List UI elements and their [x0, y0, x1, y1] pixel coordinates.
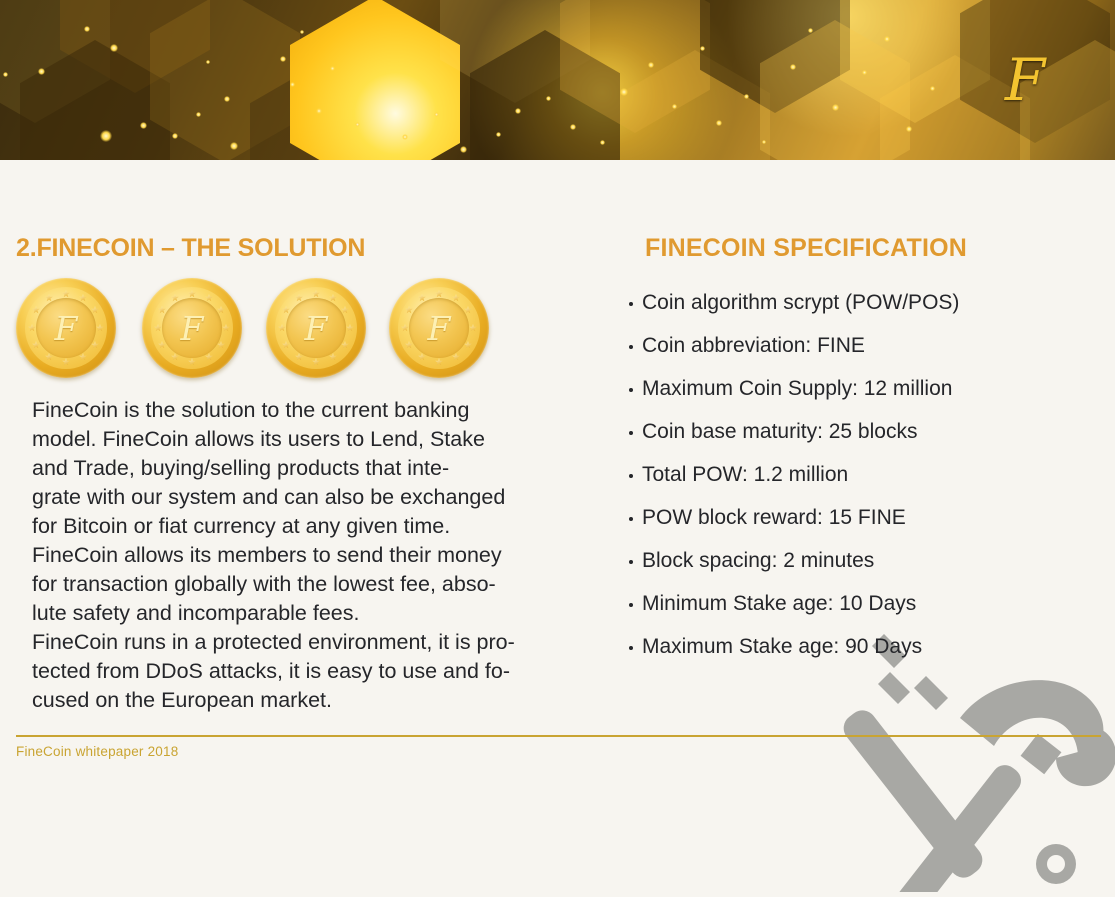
bokeh-dot — [434, 112, 439, 117]
list-item-label: Maximum Coin Supply: 12 million — [642, 377, 952, 401]
bullet-icon — [629, 388, 633, 392]
bokeh-dot — [884, 36, 890, 42]
list-item-label: Coin algorithm scrypt (POW/POS) — [642, 291, 959, 315]
bokeh-dot — [100, 130, 112, 142]
bokeh-dot — [402, 134, 408, 140]
coin-face: F — [286, 298, 346, 358]
coin-face: F — [409, 298, 469, 358]
list-item: POW block reward: 15 FINE — [629, 506, 1099, 549]
bokeh-dot — [3, 72, 8, 77]
bullet-icon — [629, 302, 633, 306]
bokeh-dot — [496, 132, 501, 137]
bokeh-dot — [330, 66, 335, 71]
bokeh-dot — [930, 86, 935, 91]
bokeh-dot — [300, 30, 304, 34]
main-content: 2.FINECOIN – THE SOLUTION F — [0, 160, 1115, 770]
bokeh-dot — [762, 140, 766, 144]
list-item-label: POW block reward: 15 FINE — [642, 506, 906, 530]
footer-label: FineCoin whitepaper 2018 — [16, 744, 178, 759]
list-item-label: Total POW: 1.2 million — [642, 463, 848, 487]
list-item-label: Coin base maturity: 25 blocks — [642, 420, 917, 444]
bokeh-dot — [172, 133, 178, 139]
solution-body-text: FineCoin is the solution to the current … — [32, 396, 607, 715]
list-item-label: Minimum Stake age: 10 Days — [642, 592, 916, 616]
bokeh-dot — [290, 82, 295, 87]
bokeh-dot — [224, 96, 230, 102]
header-banner: F — [0, 0, 1115, 160]
footer-divider — [16, 735, 1101, 737]
bokeh-dot — [672, 104, 677, 109]
bokeh-dot — [862, 70, 867, 75]
coin-letter: F — [428, 312, 451, 345]
bokeh-dot — [648, 62, 654, 68]
bokeh-dot — [110, 44, 118, 52]
bokeh-dot — [84, 26, 90, 32]
bokeh-dot — [620, 88, 628, 96]
bokeh-dot — [744, 94, 749, 99]
list-item: Coin algorithm scrypt (POW/POS) — [629, 291, 1099, 334]
list-item-label: Block spacing: 2 minutes — [642, 549, 874, 573]
bullet-icon — [629, 646, 633, 650]
section-heading-solution: 2.FINECOIN – THE SOLUTION — [16, 234, 365, 263]
bokeh-dot — [600, 140, 605, 145]
bokeh-dot — [206, 60, 210, 64]
bokeh-dot — [790, 64, 796, 70]
list-item: Coin abbreviation: FINE — [629, 334, 1099, 377]
bokeh-dot — [316, 108, 322, 114]
bokeh-dot — [700, 46, 705, 51]
bokeh-dot — [546, 96, 551, 101]
bullet-icon — [629, 517, 633, 521]
finecoin-coin-icon: F — [389, 278, 489, 378]
list-item-label: Maximum Stake age: 90 Days — [642, 635, 922, 659]
bokeh-dot — [515, 108, 521, 114]
bullet-icon — [629, 474, 633, 478]
bullet-icon — [629, 431, 633, 435]
coin-face: F — [36, 298, 96, 358]
bokeh-dot — [460, 146, 467, 153]
list-item: Total POW: 1.2 million — [629, 463, 1099, 506]
bokeh-dot — [716, 120, 722, 126]
bokeh-dot — [832, 104, 839, 111]
list-item-label: Coin abbreviation: FINE — [642, 334, 865, 358]
bokeh-dot — [196, 112, 201, 117]
list-item: Coin base maturity: 25 blocks — [629, 420, 1099, 463]
finecoin-coin-icon: F — [142, 278, 242, 378]
finecoin-coin-icon: F — [16, 278, 116, 378]
coin-row: F F — [8, 278, 508, 383]
bokeh-dot — [140, 122, 147, 129]
bokeh-dot — [230, 142, 238, 150]
specification-list: Coin algorithm scrypt (POW/POS) Coin abb… — [629, 291, 1099, 678]
coin-letter: F — [181, 312, 204, 345]
bokeh-dot — [280, 56, 286, 62]
coin-face: F — [162, 298, 222, 358]
list-item: Maximum Stake age: 90 Days — [629, 635, 1099, 678]
bokeh-dot — [570, 124, 576, 130]
coin-letter: F — [55, 312, 78, 345]
bokeh-dot — [38, 68, 45, 75]
finecoin-coin-icon: F — [266, 278, 366, 378]
hex-shape-glow — [290, 0, 460, 160]
list-item: Maximum Coin Supply: 12 million — [629, 377, 1099, 420]
coin-letter: F — [305, 312, 328, 345]
bullet-icon — [629, 345, 633, 349]
bokeh-dot — [355, 122, 360, 127]
bullet-icon — [629, 560, 633, 564]
section-heading-specification: FINECOIN SPECIFICATION — [645, 234, 967, 263]
logo-letter: F — [955, 14, 1095, 146]
bokeh-dot — [906, 126, 912, 132]
bokeh-dot — [808, 28, 813, 33]
finecoin-logo: F — [955, 14, 1095, 146]
list-item: Block spacing: 2 minutes — [629, 549, 1099, 592]
bullet-icon — [629, 603, 633, 607]
list-item: Minimum Stake age: 10 Days — [629, 592, 1099, 635]
